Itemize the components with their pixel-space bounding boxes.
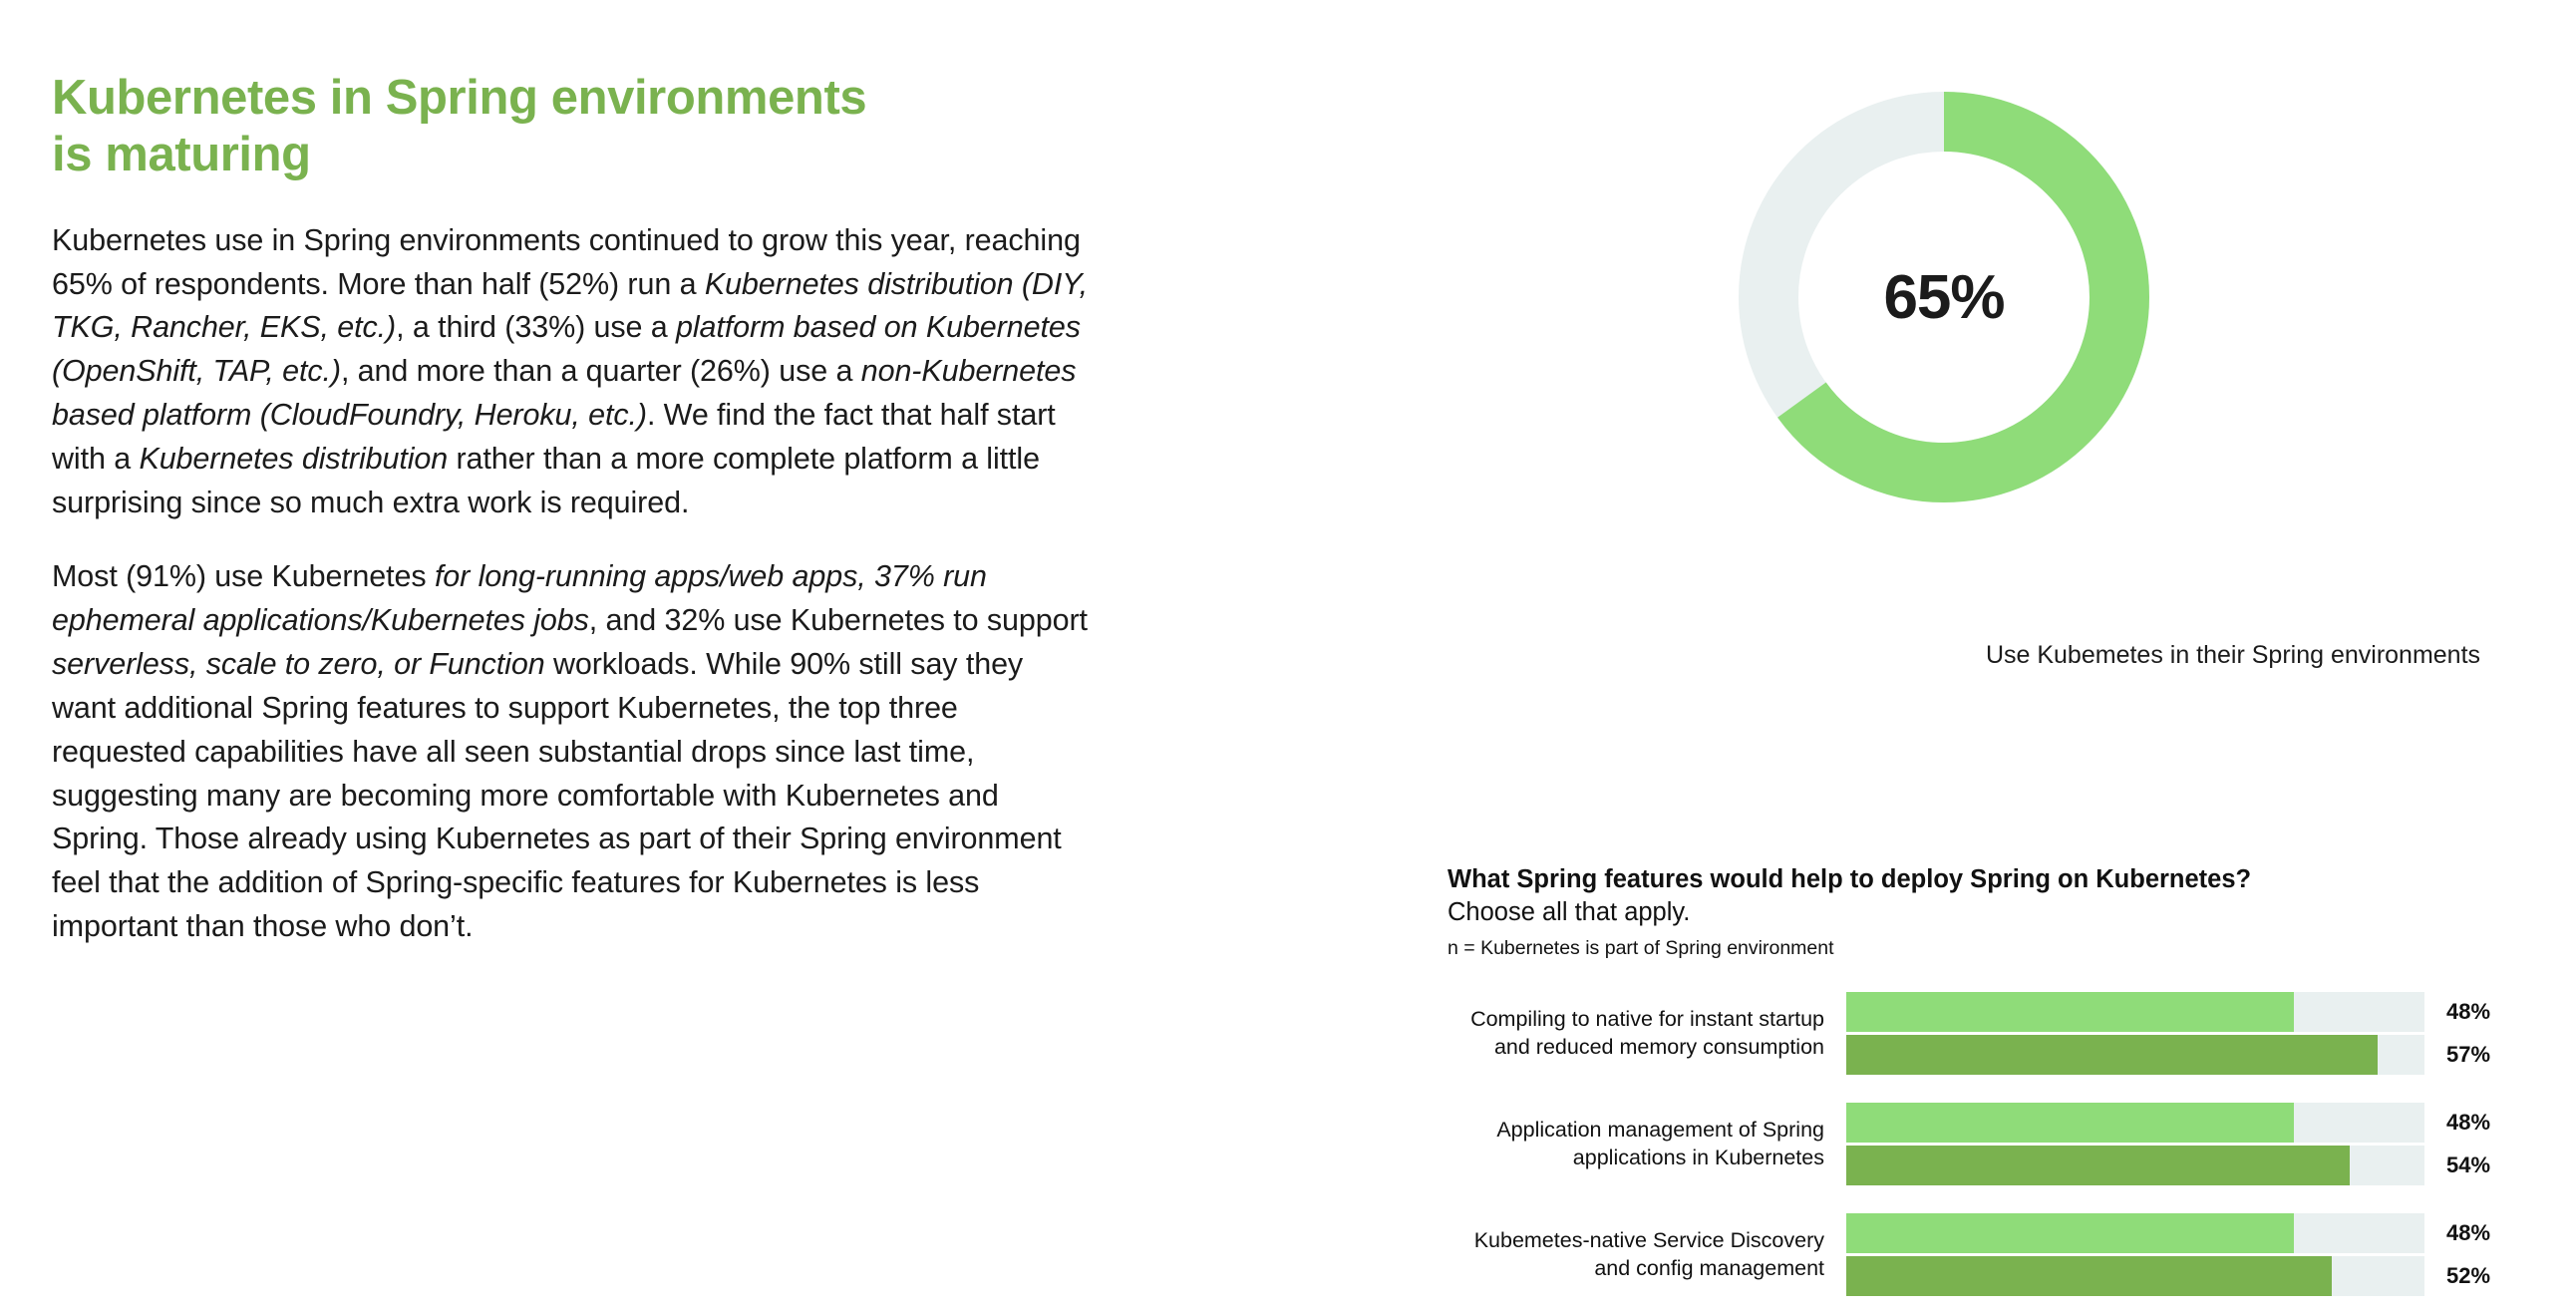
- bar-row-label-line-1: Application management of Spring: [1448, 1117, 1824, 1145]
- bar-row-label-line-2: and reduced memory consumption: [1448, 1034, 1824, 1062]
- bar-value-group: 48% 54%: [2424, 1103, 2574, 1185]
- bar-value-previous: 54%: [2446, 1146, 2574, 1185]
- donut-ring: 65%: [1725, 78, 2163, 516]
- bar-row-label: Compiling to native for instant startup …: [1448, 1006, 1846, 1062]
- page-title: Kubernetes in Spring environments is mat…: [52, 70, 1089, 183]
- bar-fill-previous: [1846, 1035, 2378, 1075]
- p2-emphasis-2: serverless, scale to zero, or Function: [52, 647, 545, 681]
- bar-row-label: Kubemetes-native Service Discovery and c…: [1448, 1227, 1846, 1283]
- bar-chart-rows: Compiling to native for instant startup …: [1448, 992, 2574, 1296]
- bar-track-previous: [1846, 1256, 2424, 1296]
- bar-chart-title: What Spring features would help to deplo…: [1448, 863, 2574, 896]
- bar-chart-subtitle: Choose all that apply.: [1448, 896, 2574, 929]
- body-paragraph-2: Most (91%) use Kubernetes for long-runni…: [52, 555, 1089, 949]
- bar-row-label-line-1: Kubemetes-native Service Discovery: [1448, 1227, 1824, 1255]
- bar-track-previous: [1846, 1146, 2424, 1185]
- charts-column: 65% Use Kubemetes in their Spring enviro…: [1436, 0, 2576, 1316]
- donut-center-label: 65%: [1725, 78, 2163, 516]
- bar-value-previous: 57%: [2446, 1035, 2574, 1075]
- bar-fill-previous: [1846, 1146, 2350, 1185]
- bar-value-current: 48%: [2446, 1103, 2574, 1143]
- bar-track-group: [1846, 1213, 2424, 1296]
- bar-row: Application management of Spring applica…: [1448, 1103, 2574, 1185]
- bar-row-label-line-2: applications in Kubernetes: [1448, 1145, 1824, 1172]
- donut-caption: Use Kubemetes in their Spring environmen…: [1725, 641, 2576, 670]
- bar-track-current: [1846, 992, 2424, 1032]
- article-text-column: Kubernetes in Spring environments is mat…: [52, 70, 1089, 949]
- p1-emphasis-4: Kubernetes distribution: [139, 442, 448, 476]
- bar-fill-current: [1846, 1103, 2294, 1143]
- bar-value-current: 48%: [2446, 1213, 2574, 1253]
- bar-value-group: 48% 52%: [2424, 1213, 2574, 1296]
- p2-run-3: workloads. While 90% still say they want…: [52, 647, 1062, 943]
- bar-track-group: [1846, 1103, 2424, 1185]
- bar-row-label-line-2: and config management: [1448, 1255, 1824, 1283]
- bar-value-previous: 52%: [2446, 1256, 2574, 1296]
- bar-row-label: Application management of Spring applica…: [1448, 1117, 1846, 1172]
- bar-track-current: [1846, 1213, 2424, 1253]
- donut-chart: 65% Use Kubemetes in their Spring enviro…: [1725, 78, 2163, 516]
- page-title-line-1: Kubernetes in Spring environments: [52, 71, 866, 125]
- p2-run-2: , and 32% use Kubernetes to support: [589, 603, 1088, 637]
- bar-value-group: 48% 57%: [2424, 992, 2574, 1075]
- bar-chart-note: n = Kubernetes is part of Spring environ…: [1448, 937, 2574, 960]
- page-title-line-2: is maturing: [52, 127, 1089, 183]
- bar-row: Kubemetes-native Service Discovery and c…: [1448, 1213, 2574, 1296]
- bar-fill-previous: [1846, 1256, 2332, 1296]
- p1-run-3: , and more than a quarter (26%) use a: [341, 354, 861, 388]
- bar-chart: What Spring features would help to deplo…: [1448, 863, 2574, 1296]
- bar-row-label-line-1: Compiling to native for instant startup: [1448, 1006, 1824, 1034]
- slide-page: Kubernetes in Spring environments is mat…: [0, 0, 2576, 1316]
- bar-fill-current: [1846, 992, 2294, 1032]
- body-paragraph-1: Kubernetes use in Spring environments co…: [52, 219, 1089, 525]
- bar-track-current: [1846, 1103, 2424, 1143]
- bar-track-previous: [1846, 1035, 2424, 1075]
- bar-track-group: [1846, 992, 2424, 1075]
- bar-row: Compiling to native for instant startup …: [1448, 992, 2574, 1075]
- p2-run-1: Most (91%) use Kubernetes: [52, 559, 435, 593]
- p1-run-2: , a third (33%) use a: [396, 310, 676, 344]
- bar-fill-current: [1846, 1213, 2294, 1253]
- bar-value-current: 48%: [2446, 992, 2574, 1032]
